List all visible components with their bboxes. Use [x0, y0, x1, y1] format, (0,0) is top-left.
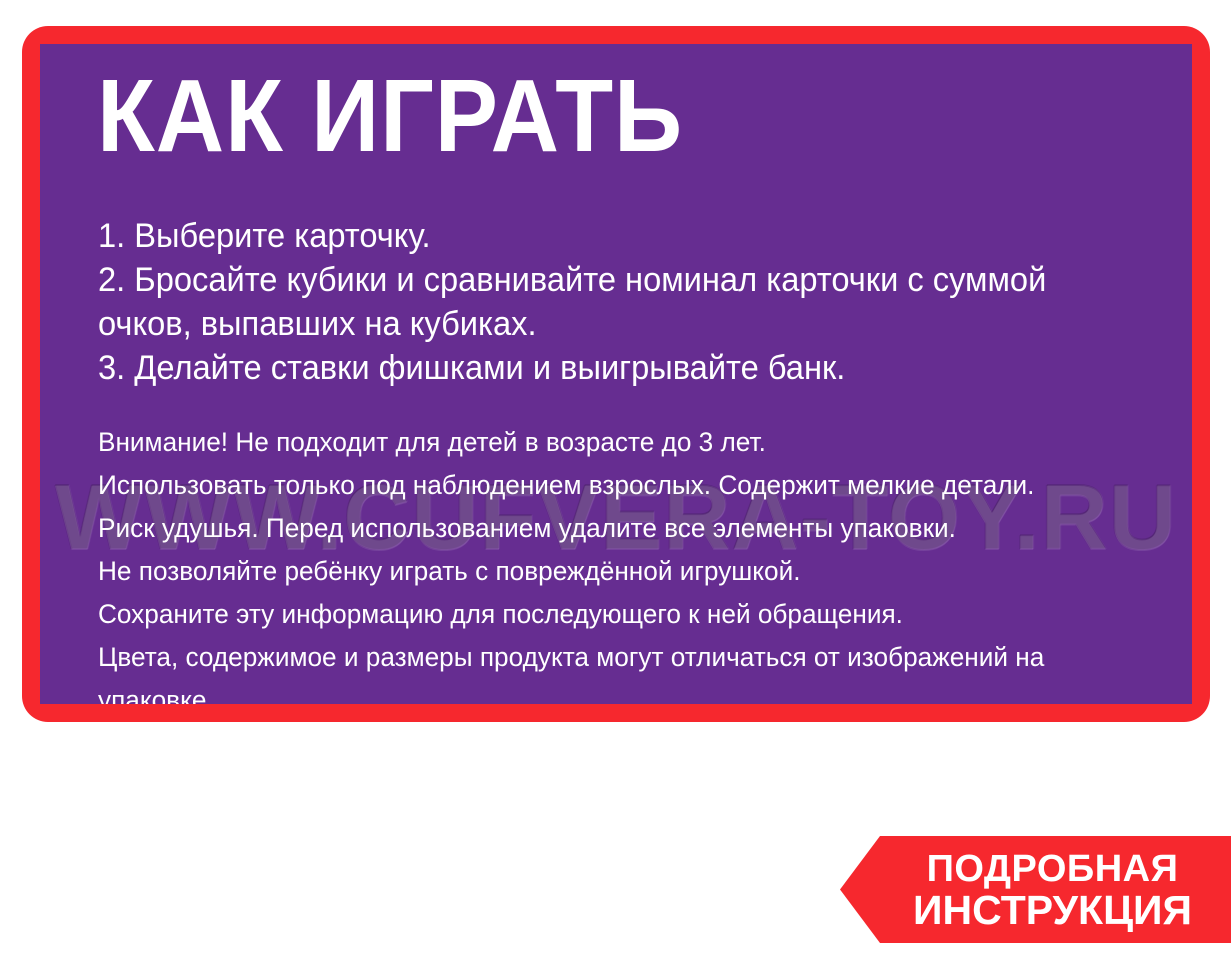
list-item: 1. Выберите карточку.	[98, 214, 1096, 258]
detailed-instruction-badge[interactable]: ПОДРОБНАЯ ИНСТРУКЦИЯ	[840, 836, 1231, 943]
warning-line: Внимание! Не подходит для детей в возрас…	[98, 421, 1155, 464]
warning-line: Цвета, содержимое и размеры продукта мог…	[98, 636, 1155, 704]
instruction-card: WWW.CUFVERA-TOY.RU КАК ИГРАТЬ 1. Выберит…	[22, 26, 1210, 722]
warning-line: Сохраните эту информацию для последующег…	[98, 593, 1155, 636]
warning-line: Не позволяйте ребёнку играть с повреждён…	[98, 550, 1155, 593]
badge-label-line1: ПОДРОБНАЯ	[927, 849, 1179, 890]
instruction-panel: WWW.CUFVERA-TOY.RU КАК ИГРАТЬ 1. Выберит…	[40, 44, 1192, 704]
how-to-play-steps: 1. Выберите карточку. 2. Бросайте кубики…	[98, 214, 1096, 390]
page-title: КАК ИГРАТЬ	[97, 64, 683, 167]
warning-line: Использовать только под наблюдением взро…	[98, 464, 1155, 507]
instruction-content: КАК ИГРАТЬ 1. Выберите карточку. 2. Брос…	[40, 44, 1192, 704]
safety-warnings: Внимание! Не подходит для детей в возрас…	[98, 421, 1155, 704]
badge-label-line2: ИНСТРУКЦИЯ	[913, 890, 1192, 931]
warning-line: Риск удушья. Перед использованием удалит…	[98, 507, 1155, 550]
list-item: 3. Делайте ставки фишками и выигрывайте …	[98, 346, 1096, 390]
list-item: 2. Бросайте кубики и сравнивайте номинал…	[98, 258, 1096, 346]
